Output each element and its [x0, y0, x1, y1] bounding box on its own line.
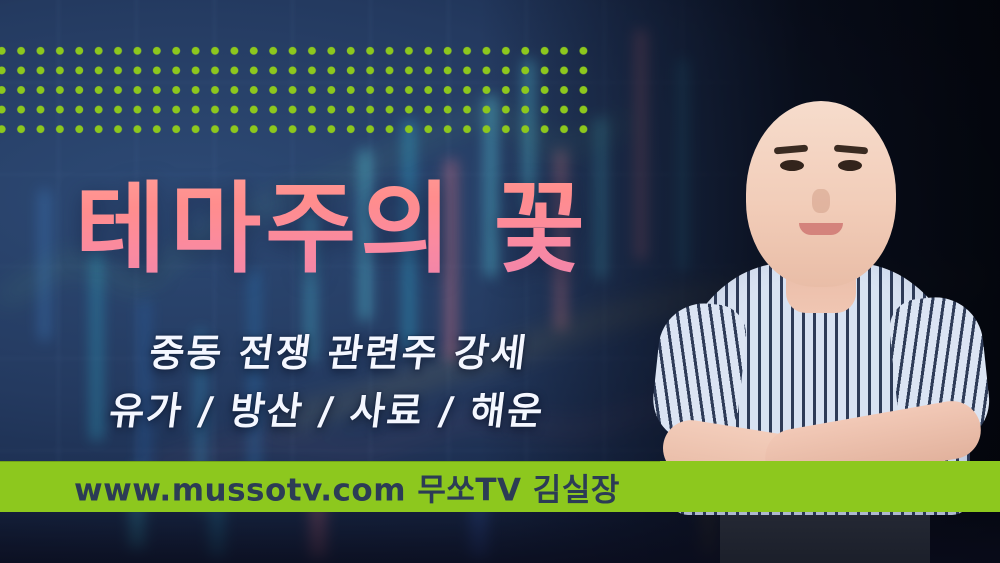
presenter-brow-left — [774, 145, 808, 155]
presenter-body — [656, 263, 986, 563]
presenter-mouth — [799, 223, 843, 235]
presenter-eye-right — [838, 160, 862, 171]
green-dot-grid-icon — [0, 41, 590, 141]
thumbnail-canvas: 테마주의 꽃 중동 전쟁 관련주 강세 유가 / 방산 / 사료 / 해운 ww… — [0, 0, 1000, 563]
footer-bar-front-segment — [660, 461, 1000, 512]
footer-branding-text: www.mussotv.com 무쏘TV 김실장 — [74, 464, 620, 509]
presenter-eye-left — [780, 160, 804, 171]
subtitle-line-1: 중동 전쟁 관련주 강세 — [147, 322, 532, 377]
presenter-face — [746, 101, 896, 287]
page-title: 테마주의 꽃 — [75, 178, 589, 282]
presenter-nose — [812, 189, 830, 213]
presenter-brow-right — [834, 145, 868, 155]
subtitle-line-2: 유가 / 방산 / 사료 / 해운 — [107, 380, 548, 435]
